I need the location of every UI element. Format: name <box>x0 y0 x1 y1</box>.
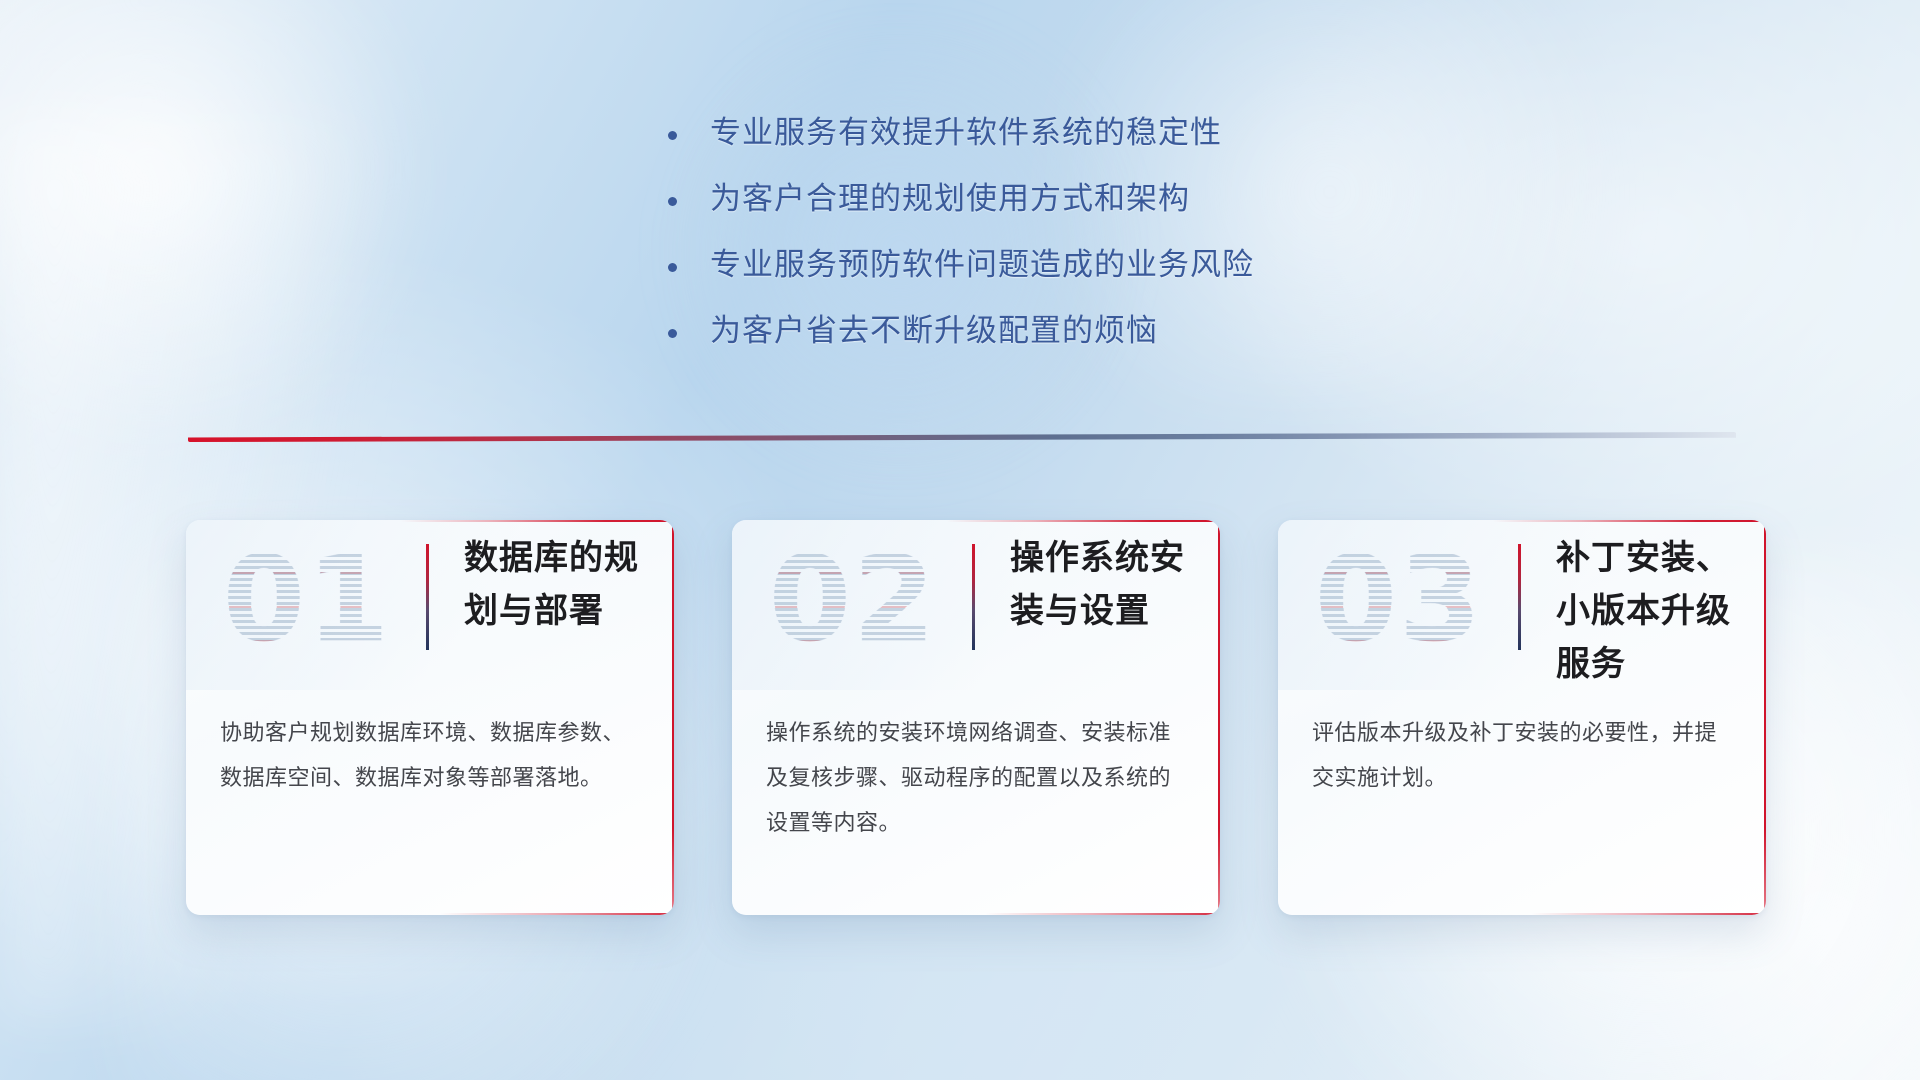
card-title: 数据库的规划与部署 <box>464 532 664 638</box>
bullet-text: 为客户省去不断升级配置的烦恼 <box>710 313 1158 348</box>
bullet-text: 为客户合理的规划使用方式和架构 <box>710 181 1190 216</box>
bullet-text: 专业服务预防软件问题造成的业务风险 <box>710 247 1254 282</box>
bullet-dot-icon <box>668 329 677 338</box>
title-accent-rule <box>426 544 429 650</box>
divider-gradient-bar <box>188 432 1736 442</box>
title-accent-rule <box>972 544 975 650</box>
card-description: 评估版本升级及补丁安装的必要性，并提交实施计划。 <box>1312 710 1732 800</box>
list-item: 为客户省去不断升级配置的烦恼 <box>660 298 1560 364</box>
list-item: 专业服务预防软件问题造成的业务风险 <box>660 232 1560 298</box>
card-index-number-tint: 01 <box>202 524 412 674</box>
benefit-bullet-list: 专业服务有效提升软件系统的稳定性 为客户合理的规划使用方式和架构 专业服务预防软… <box>660 100 1560 364</box>
list-item: 为客户合理的规划使用方式和架构 <box>660 166 1560 232</box>
card-description: 协助客户规划数据库环境、数据库参数、数据库空间、数据库对象等部署落地。 <box>220 710 640 800</box>
card-title: 补丁安装、小版本升级服务 <box>1556 532 1756 691</box>
card-header: 02 02 操作系统安装与设置 <box>732 520 1220 678</box>
bullet-dot-icon <box>668 131 677 140</box>
card-bottom-edge <box>732 913 1220 915</box>
card-bottom-edge <box>186 913 674 915</box>
section-divider <box>188 432 1736 442</box>
service-card-group: 01 01 数据库的规划与部署 协助客户规划数据库环境、数据库参数、数据库空间、… <box>186 520 1766 915</box>
card-header: 03 03 补丁安装、小版本升级服务 <box>1278 520 1766 678</box>
bullet-dot-icon <box>668 197 677 206</box>
bullet-text: 专业服务有效提升软件系统的稳定性 <box>710 115 1222 150</box>
service-card-02[interactable]: 02 02 操作系统安装与设置 操作系统的安装环境网络调查、安装标准及复核步骤、… <box>732 520 1220 915</box>
list-item: 专业服务有效提升软件系统的稳定性 <box>660 100 1560 166</box>
bullet-dot-icon <box>668 263 677 272</box>
title-accent-rule <box>1518 544 1521 650</box>
background-light-streak-1 <box>0 0 460 480</box>
card-index-number-tint: 03 <box>1294 524 1504 674</box>
card-index-number-tint: 02 <box>748 524 958 674</box>
card-title: 操作系统安装与设置 <box>1010 532 1210 638</box>
card-bottom-edge <box>1278 913 1766 915</box>
service-card-01[interactable]: 01 01 数据库的规划与部署 协助客户规划数据库环境、数据库参数、数据库空间、… <box>186 520 674 915</box>
service-card-03[interactable]: 03 03 补丁安装、小版本升级服务 评估版本升级及补丁安装的必要性，并提交实施… <box>1278 520 1766 915</box>
card-header: 01 01 数据库的规划与部署 <box>186 520 674 678</box>
card-description: 操作系统的安装环境网络调查、安装标准及复核步骤、驱动程序的配置以及系统的设置等内… <box>766 710 1186 845</box>
slide-root: 专业服务有效提升软件系统的稳定性 为客户合理的规划使用方式和架构 专业服务预防软… <box>0 0 1920 1080</box>
